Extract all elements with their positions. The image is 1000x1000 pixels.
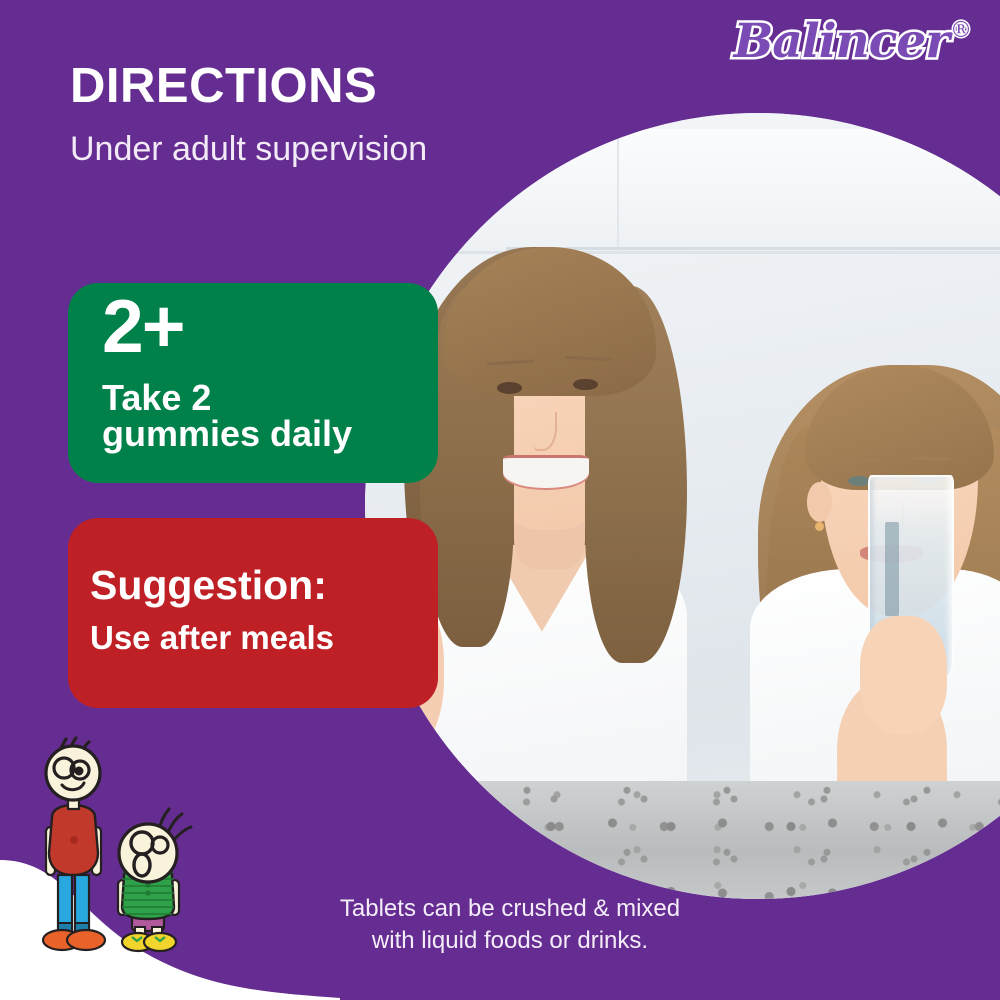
lifestyle-photo xyxy=(365,113,1000,899)
suggestion-text: Use after meals xyxy=(90,620,334,656)
dosage-line-2: gummies daily xyxy=(102,414,352,454)
girl-ear xyxy=(807,482,832,521)
cartoon-kids-illustration xyxy=(22,735,212,965)
brand-logo: Balincer ® xyxy=(734,18,972,65)
page-title: DIRECTIONS xyxy=(70,58,377,114)
dosage-callout: 2+ Take 2 gummies daily xyxy=(68,283,438,483)
kitchen-counter xyxy=(365,781,1000,899)
brand-name: Balincer xyxy=(734,18,949,65)
footer-note-line-1: Tablets can be crushed & mixed xyxy=(260,893,760,925)
cartoon-kid-small xyxy=(118,809,191,951)
kitchen-cabinet xyxy=(444,129,1000,255)
cabinet-seam xyxy=(617,129,619,255)
registered-trademark-icon: ® xyxy=(950,20,972,42)
suggestion-heading: Suggestion: xyxy=(90,563,327,608)
woman-eye-left xyxy=(497,382,522,394)
woman-eye-right xyxy=(573,379,598,391)
cabinet-shelf-line xyxy=(506,247,1000,250)
page-subtitle: Under adult supervision xyxy=(70,130,427,169)
dosage-age-label: 2+ xyxy=(102,289,184,364)
girl-hand xyxy=(860,616,946,734)
footer-note-line-2: with liquid foods or drinks. xyxy=(260,925,760,957)
suggestion-callout: Suggestion: Use after meals xyxy=(68,518,438,708)
footer-note: Tablets can be crushed & mixed with liqu… xyxy=(260,893,760,956)
promo-banner: DIRECTIONS Under adult supervision Balin… xyxy=(0,0,1000,1000)
woman-smile xyxy=(503,455,589,488)
cartoon-kid-tall xyxy=(43,738,105,950)
girl-earring xyxy=(815,522,824,531)
water-glass-highlight xyxy=(885,522,899,616)
